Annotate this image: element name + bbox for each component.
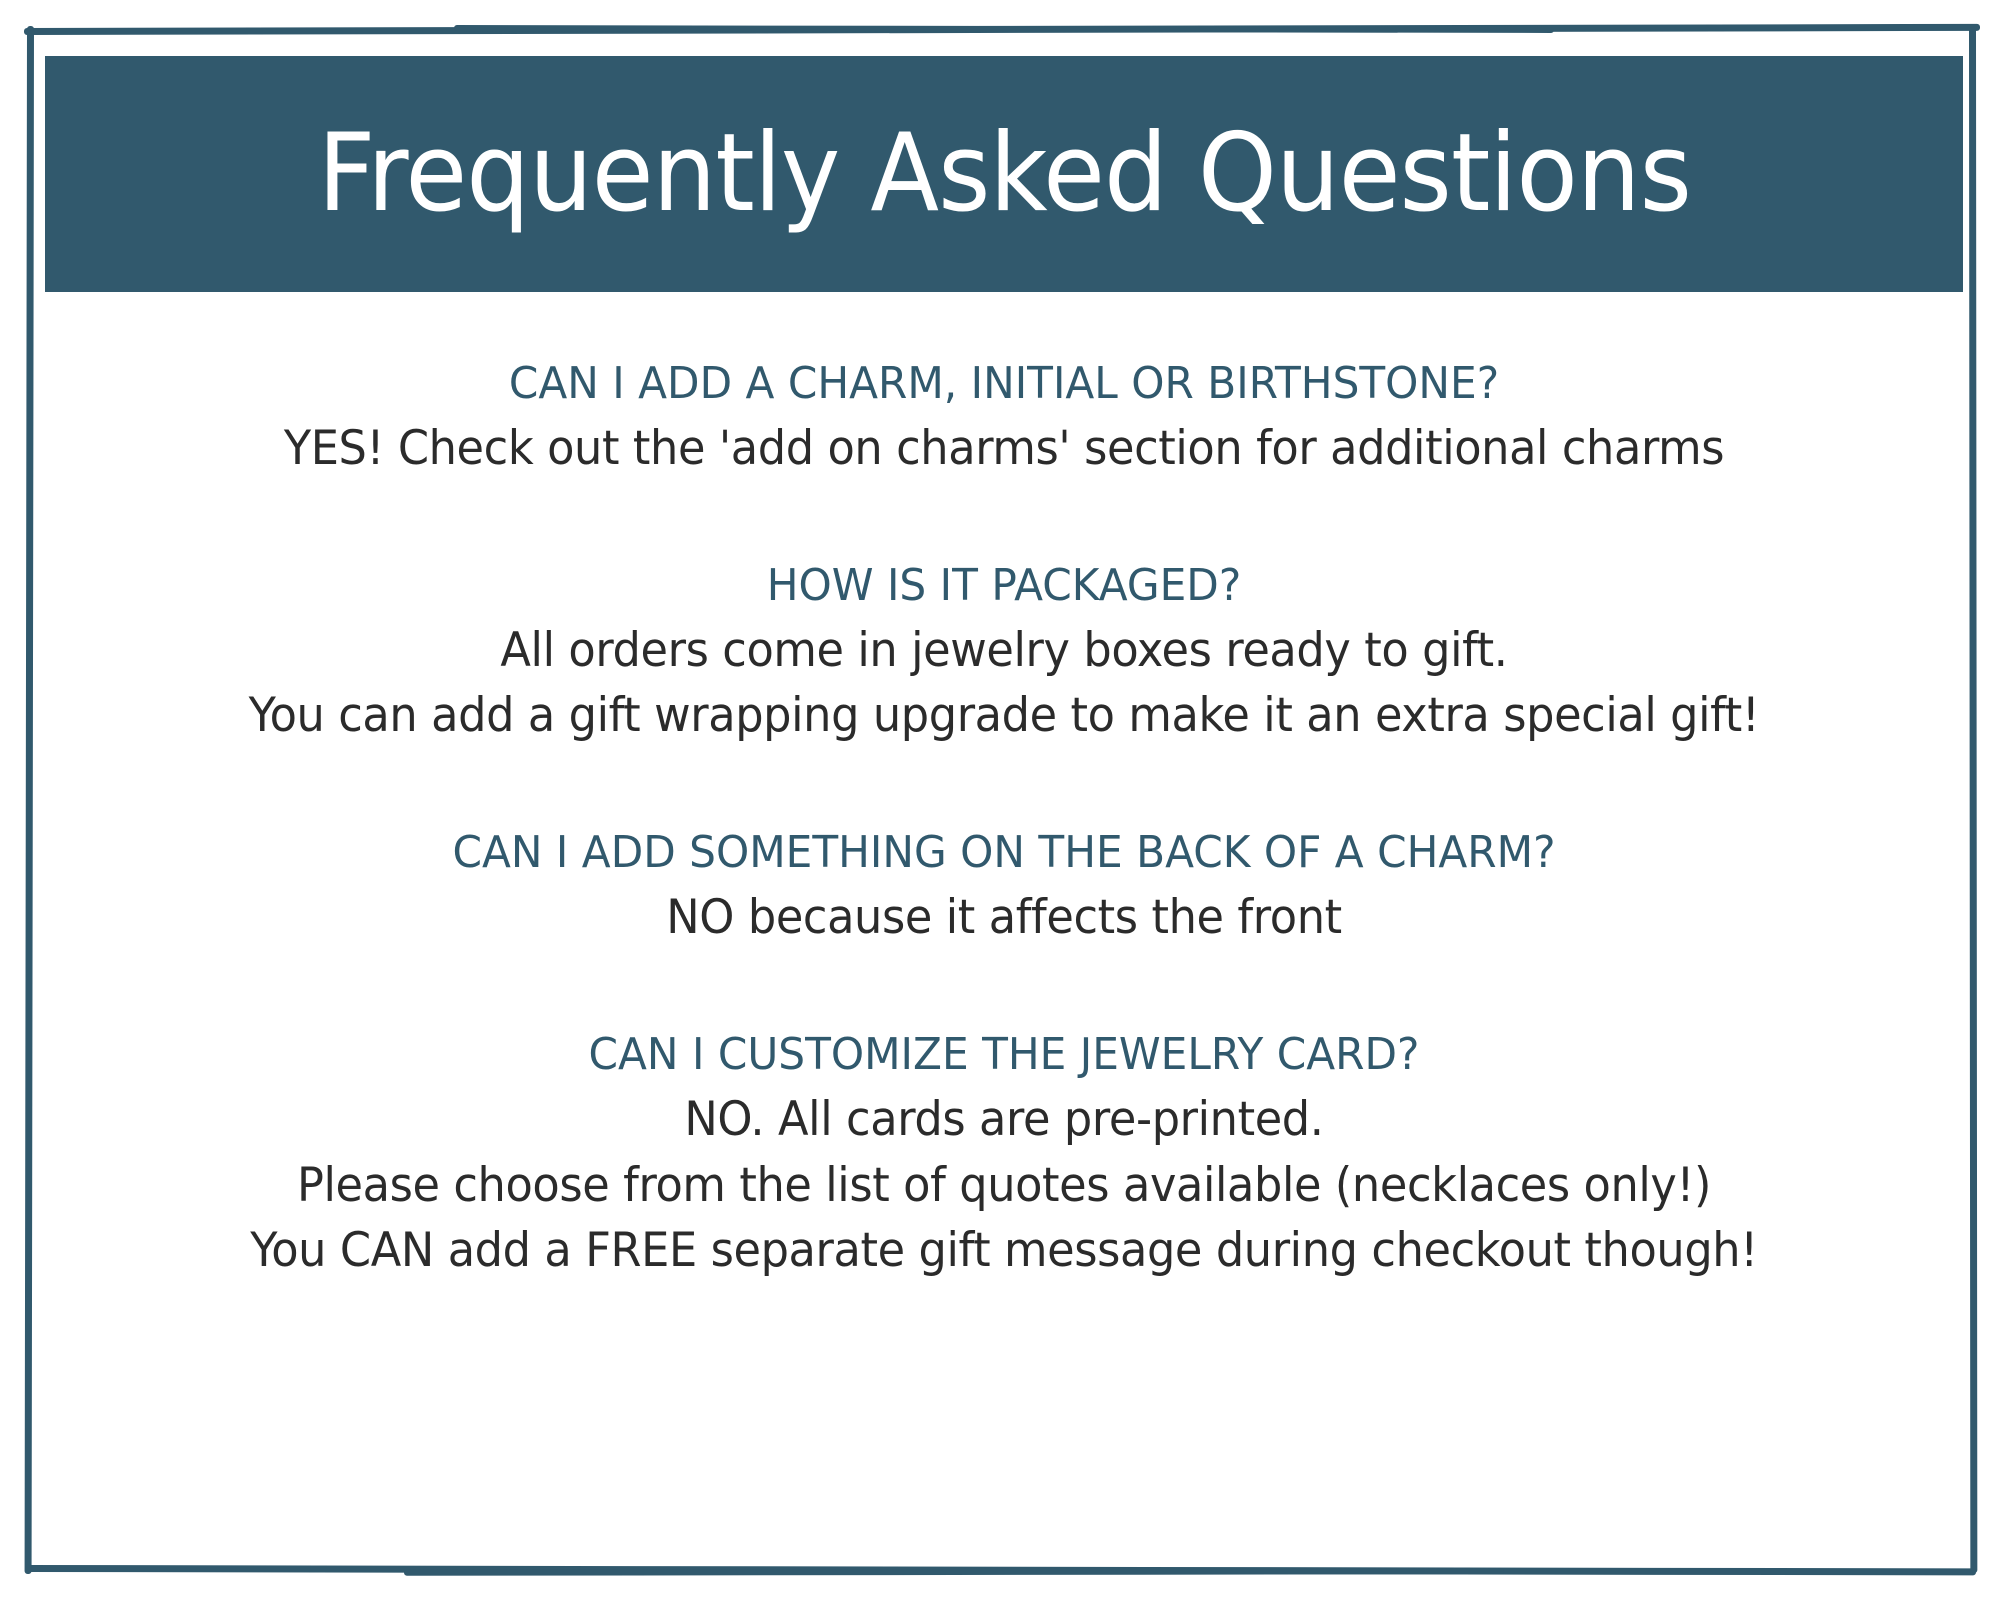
page-title: Frequently Asked Questions bbox=[317, 117, 1690, 230]
frame-right-edge bbox=[1969, 27, 1977, 1573]
faq-list: CAN I ADD A CHARM, INITIAL OR BIRTHSTONE… bbox=[48, 292, 1960, 1550]
faq-page: Frequently Asked Questions CAN I ADD A C… bbox=[0, 0, 2000, 1600]
faq-answer-line: NO because it affects the front bbox=[96, 885, 1912, 951]
faq-question: CAN I CUSTOMIZE THE JEWELRY CARD? bbox=[86, 1029, 1922, 1081]
header-banner: Frequently Asked Questions bbox=[45, 56, 1963, 292]
faq-item: HOW IS IT PACKAGED? All orders come in j… bbox=[48, 560, 1960, 750]
faq-item: CAN I ADD A CHARM, INITIAL OR BIRTHSTONE… bbox=[48, 358, 1960, 482]
faq-answer-line: You can add a gift wrapping upgrade to m… bbox=[96, 683, 1912, 749]
frame-top-edge-overlay bbox=[454, 25, 1554, 33]
faq-item: CAN I ADD SOMETHING ON THE BACK OF A CHA… bbox=[48, 827, 1960, 951]
faq-question: CAN I ADD SOMETHING ON THE BACK OF A CHA… bbox=[86, 827, 1922, 879]
frame-bottom-edge bbox=[26, 1565, 1976, 1575]
faq-answer-line: All orders come in jewelry boxes ready t… bbox=[96, 618, 1912, 684]
frame-left-edge bbox=[25, 26, 34, 1574]
faq-question: CAN I ADD A CHARM, INITIAL OR BIRTHSTONE… bbox=[86, 358, 1922, 410]
faq-answer-line: Please choose from the list of quotes av… bbox=[96, 1153, 1912, 1219]
faq-answer-line: YES! Check out the 'add on charms' secti… bbox=[96, 416, 1912, 482]
faq-answer-line: You CAN add a FREE separate gift message… bbox=[96, 1218, 1912, 1284]
faq-answer-line: NO. All cards are pre-printed. bbox=[96, 1087, 1912, 1153]
faq-question: HOW IS IT PACKAGED? bbox=[86, 560, 1922, 612]
frame-bottom-edge-overlay bbox=[404, 1568, 1504, 1576]
frame-top-edge bbox=[24, 24, 1980, 35]
faq-item: CAN I CUSTOMIZE THE JEWELRY CARD? NO. Al… bbox=[48, 1029, 1960, 1284]
